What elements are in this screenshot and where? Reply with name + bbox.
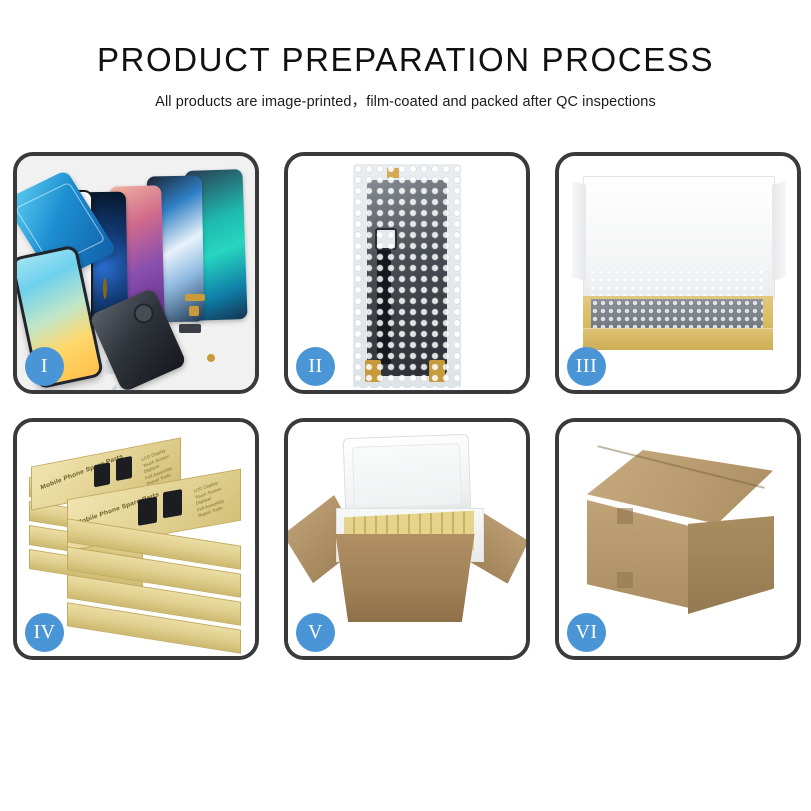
- gold-connector-1: [185, 294, 205, 301]
- process-step-6: VI: [555, 418, 801, 660]
- box-screen-img-b: [116, 456, 132, 481]
- bubble-wrap-pouch: [353, 164, 461, 388]
- carton-front-face: [587, 500, 689, 608]
- box-screen-img-a: [94, 462, 110, 487]
- screw-set: [207, 354, 215, 362]
- taptic-engine: [179, 324, 201, 333]
- page-subtitle: All products are image-printed，film-coat…: [0, 90, 811, 111]
- process-step-4: Mobile Phone Spare Parts LCD DisplayTouc…: [13, 418, 259, 660]
- step-badge-3: III: [567, 347, 606, 386]
- phone-back-housing: [89, 287, 187, 390]
- gold-connector-2: [189, 306, 199, 316]
- process-step-1: I: [13, 152, 259, 394]
- box-screen-img-d: [163, 489, 182, 518]
- product-preparation-page: PRODUCT PREPARATION PROCESS All products…: [0, 0, 811, 811]
- box-stack: Mobile Phone Spare Parts LCD DisplayTouc…: [25, 444, 255, 640]
- page-title: PRODUCT PREPARATION PROCESS: [0, 42, 811, 78]
- carton-tape-lower: [617, 572, 633, 588]
- step-badge-1: I: [25, 347, 64, 386]
- step-badge-4: IV: [25, 613, 64, 652]
- process-step-2: II: [284, 152, 530, 394]
- box-screen-img-c: [138, 496, 157, 525]
- foam-lid: [343, 434, 472, 518]
- header: PRODUCT PREPARATION PROCESS All products…: [0, 0, 811, 111]
- step-badge-2: II: [296, 347, 335, 386]
- process-step-3: III: [555, 152, 801, 394]
- screwdriver-icon: [92, 384, 118, 390]
- gold-tab-top: [387, 168, 399, 178]
- process-step-grid: I II: [13, 152, 801, 660]
- step-badge-5: V: [296, 613, 335, 652]
- gold-connector-right: [429, 360, 445, 382]
- carton-side-face: [688, 516, 774, 614]
- process-step-5: V: [284, 418, 530, 660]
- step-badge-6: VI: [567, 613, 606, 652]
- spare-parts-cluster: [103, 280, 255, 384]
- golden-box-front: [583, 328, 773, 350]
- speaker-coil: [103, 278, 107, 299]
- gold-connector-left: [365, 360, 381, 382]
- carton-tape-upper: [617, 508, 633, 524]
- flex-cable-strip: [377, 244, 391, 364]
- carton-body: [326, 534, 484, 622]
